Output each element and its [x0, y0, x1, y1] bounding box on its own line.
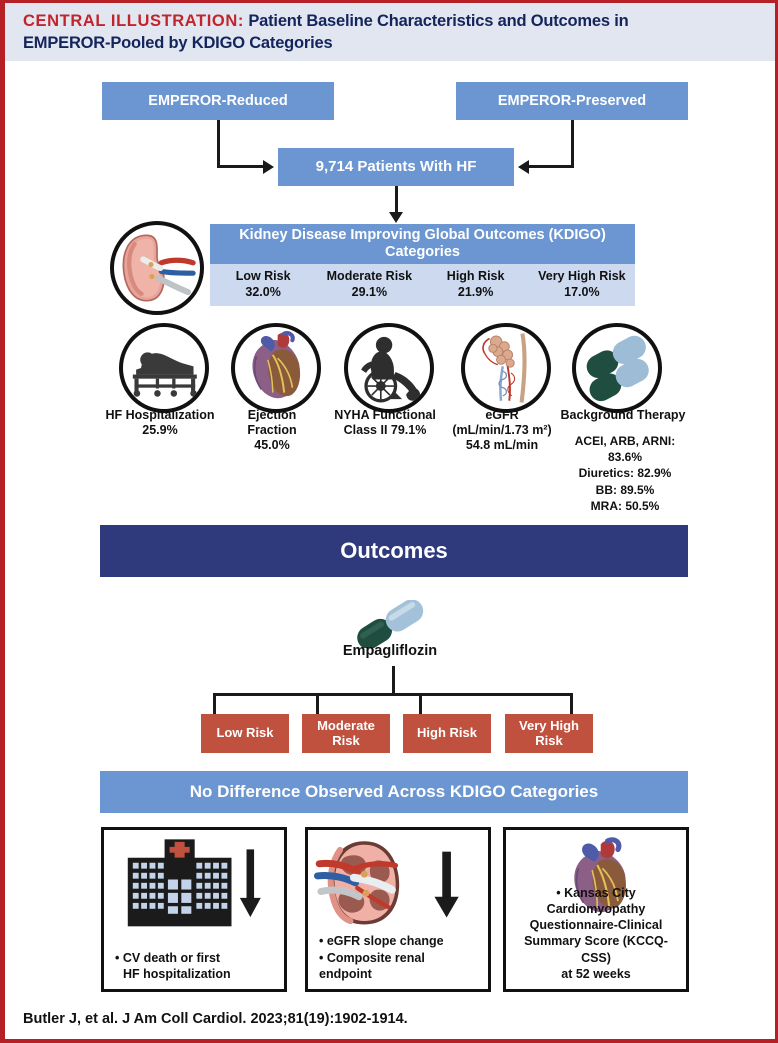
- trial-box-emperor-reduced: EMPEROR-Reduced: [102, 82, 334, 120]
- arrow-left-icon-right: [518, 160, 529, 174]
- background-therapy-diuretics: Diuretics: 82.9%: [553, 465, 697, 481]
- kidney-icon-circle: [110, 221, 204, 315]
- kidney-icon: [114, 225, 200, 311]
- wheelchair-icon: [348, 327, 430, 409]
- outcome-panel-kccq: • Kansas City Cardiomyopathy Questionnai…: [503, 827, 689, 992]
- risk-box-moderate: Moderate Risk: [302, 714, 390, 753]
- outcome-panel-kccq-line2: Questionnaire-Clinical: [514, 917, 678, 933]
- hospital-bed-icon-circle: [119, 323, 209, 413]
- heart-icon: [235, 327, 317, 409]
- trial-box-emperor-reduced-label: EMPEROR-Reduced: [148, 93, 287, 110]
- ejection-fraction-label1: Ejection: [220, 408, 324, 423]
- branch-rail: [213, 693, 573, 696]
- central-illustration-figure: CENTRAL ILLUSTRATION: Patient Baseline C…: [0, 0, 778, 1043]
- ejection-fraction-label2: Fraction: [220, 423, 324, 438]
- ejection-fraction-stat: Ejection Fraction 45.0%: [220, 408, 324, 453]
- outcome-panel-hospitalization-line1: • CV death or first: [115, 950, 276, 966]
- outcome-panel-kccq-line4: at 52 weeks: [514, 966, 678, 982]
- nephron-icon-circle: [461, 323, 551, 413]
- connector-right-horizontal: [529, 165, 574, 168]
- nyha-class-label: NYHA Functional: [325, 408, 445, 423]
- risk-box-veryhigh-label1: Very High: [519, 718, 579, 733]
- risk-box-high-label: High Risk: [417, 726, 477, 740]
- outcome-panel-renal-text: • eGFR slope change • Composite renal en…: [308, 933, 488, 982]
- background-therapy-acei-value: 83.6%: [553, 449, 697, 465]
- kdigo-category-veryhigh-label: Very High Risk: [538, 269, 626, 285]
- background-therapy-mra: MRA: 50.5%: [553, 498, 697, 514]
- connector-left-vertical: [217, 120, 220, 165]
- page-title-line2: EMPEROR-Pooled by KDIGO Categories: [23, 32, 759, 54]
- down-arrow-icon: [434, 852, 458, 918]
- risk-box-low-label: Low Risk: [216, 726, 273, 740]
- outcome-panel-renal-line1: • eGFR slope change: [319, 933, 480, 949]
- background-therapy-details: ACEI, ARB, ARNI: 83.6% Diuretics: 82.9% …: [553, 433, 697, 514]
- arrow-right-icon-left: [263, 160, 274, 174]
- background-therapy-bb: BB: 89.5%: [553, 482, 697, 498]
- hospital-bed-icon: [123, 327, 205, 409]
- kdigo-category-veryhigh: Very High Risk 17.0%: [529, 264, 635, 306]
- background-therapy-title: Background Therapy: [553, 408, 693, 423]
- kdigo-category-low: Low Risk 32.0%: [210, 264, 316, 306]
- pooled-patients-box: 9,714 Patients With HF: [278, 148, 514, 186]
- ejection-fraction-value: 45.0%: [220, 438, 324, 453]
- page-title-line1: Patient Baseline Characteristics and Out…: [248, 12, 628, 30]
- egfr-label: eGFR: [437, 408, 567, 423]
- outcomes-bar-label: Outcomes: [340, 538, 448, 564]
- outcome-panel-kccq-text: • Kansas City Cardiomyopathy Questionnai…: [506, 885, 686, 983]
- trial-box-emperor-preserved-label: EMPEROR-Preserved: [498, 93, 646, 110]
- risk-box-high: High Risk: [403, 714, 491, 753]
- branch-leg-1: [213, 693, 216, 715]
- kdigo-heading-line1: Kidney Disease Improving Global Outcomes…: [239, 227, 606, 243]
- kdigo-category-high-label: High Risk: [447, 269, 505, 285]
- result-bar: No Difference Observed Across KDIGO Cate…: [100, 771, 688, 813]
- empagliflozin-label-wrap: Empagliflozin: [305, 643, 475, 660]
- hf-hospitalization-label: HF Hospitalization: [100, 408, 220, 423]
- background-therapy-label: Background Therapy: [553, 408, 693, 423]
- kdigo-category-moderate-value: 29.1%: [352, 285, 387, 301]
- central-illustration-label: CENTRAL ILLUSTRATION:: [23, 12, 244, 30]
- kdigo-category-high: High Risk 21.9%: [423, 264, 529, 306]
- egfr-stat: eGFR (mL/min/1.73 m²) 54.8 mL/min: [437, 408, 567, 453]
- outcomes-bar: Outcomes: [100, 525, 688, 577]
- outcome-panel-hospitalization-line2: HF hospitalization: [115, 966, 276, 982]
- hf-hospitalization-stat: HF Hospitalization 25.9%: [100, 408, 220, 438]
- page-title: CENTRAL ILLUSTRATION: Patient Baseline C…: [23, 10, 759, 32]
- capsule-icon-circle: [572, 323, 662, 413]
- citation: Butler J, et al. J Am Coll Cardiol. 2023…: [23, 1011, 408, 1027]
- branch-leg-4: [570, 693, 573, 715]
- trial-box-emperor-preserved: EMPEROR-Preserved: [456, 82, 688, 120]
- kdigo-heading: Kidney Disease Improving Global Outcomes…: [210, 224, 635, 264]
- risk-box-moderate-label1: Moderate: [317, 718, 375, 733]
- risk-box-veryhigh: Very High Risk: [505, 714, 593, 753]
- outcome-panel-renal: • eGFR slope change • Composite renal en…: [305, 827, 491, 992]
- kdigo-category-veryhigh-value: 17.0%: [564, 285, 599, 301]
- heart-icon-circle: [231, 323, 321, 413]
- result-bar-label: No Difference Observed Across KDIGO Cate…: [190, 782, 598, 802]
- kdigo-category-moderate: Moderate Risk 29.1%: [316, 264, 422, 306]
- hf-hospitalization-value: 25.9%: [100, 423, 220, 438]
- connector-left-horizontal: [217, 165, 265, 168]
- outcome-panel-kccq-line3: Summary Score (KCCQ-CSS): [514, 933, 678, 966]
- kdigo-category-low-label: Low Risk: [236, 269, 291, 285]
- empagliflozin-capsule: [342, 600, 438, 648]
- down-arrow-icon: [240, 849, 261, 917]
- kdigo-category-high-value: 21.9%: [458, 285, 493, 301]
- capsule-icon: [576, 327, 658, 409]
- risk-box-moderate-label2: Risk: [332, 733, 359, 748]
- connector-right-vertical: [571, 120, 574, 165]
- kdigo-category-low-value: 32.0%: [245, 285, 280, 301]
- kdigo-category-band: Low Risk 32.0% Moderate Risk 29.1% High …: [210, 264, 635, 306]
- arrow-down-icon-kdigo: [389, 212, 403, 223]
- risk-box-veryhigh-label2: Risk: [535, 733, 562, 748]
- outcome-panel-hospitalization-text: • CV death or first HF hospitalization: [104, 950, 284, 983]
- outcome-panel-hospitalization: • CV death or first HF hospitalization: [101, 827, 287, 992]
- egfr-value: 54.8 mL/min: [437, 438, 567, 453]
- background-therapy-acei-label: ACEI, ARB, ARNI:: [553, 433, 697, 449]
- connector-pooled-to-kdigo: [395, 186, 398, 214]
- kidney-icon: [314, 834, 470, 930]
- outcome-panel-kccq-line1: • Kansas City Cardiomyopathy: [514, 885, 678, 918]
- pooled-patients-label: 9,714 Patients With HF: [316, 158, 477, 175]
- nyha-class-stat: NYHA Functional Class II 79.1%: [325, 408, 445, 438]
- empagliflozin-label: Empagliflozin: [343, 643, 437, 659]
- figure-header: CENTRAL ILLUSTRATION: Patient Baseline C…: [5, 3, 775, 61]
- kdigo-heading-line2: Categories: [385, 244, 460, 260]
- kdigo-category-moderate-label: Moderate Risk: [327, 269, 412, 285]
- hospital-icon: [112, 836, 264, 928]
- wheelchair-icon-circle: [344, 323, 434, 413]
- branch-leg-2: [316, 693, 319, 715]
- egfr-units: (mL/min/1.73 m²): [437, 423, 567, 438]
- outcome-panel-renal-line2: • Composite renal endpoint: [319, 950, 480, 983]
- risk-box-low: Low Risk: [201, 714, 289, 753]
- nephron-icon: [465, 327, 547, 409]
- nyha-class-value: Class II 79.1%: [325, 423, 445, 438]
- capsule-icon: [342, 600, 438, 648]
- branch-trunk: [392, 666, 395, 695]
- branch-leg-3: [419, 693, 422, 715]
